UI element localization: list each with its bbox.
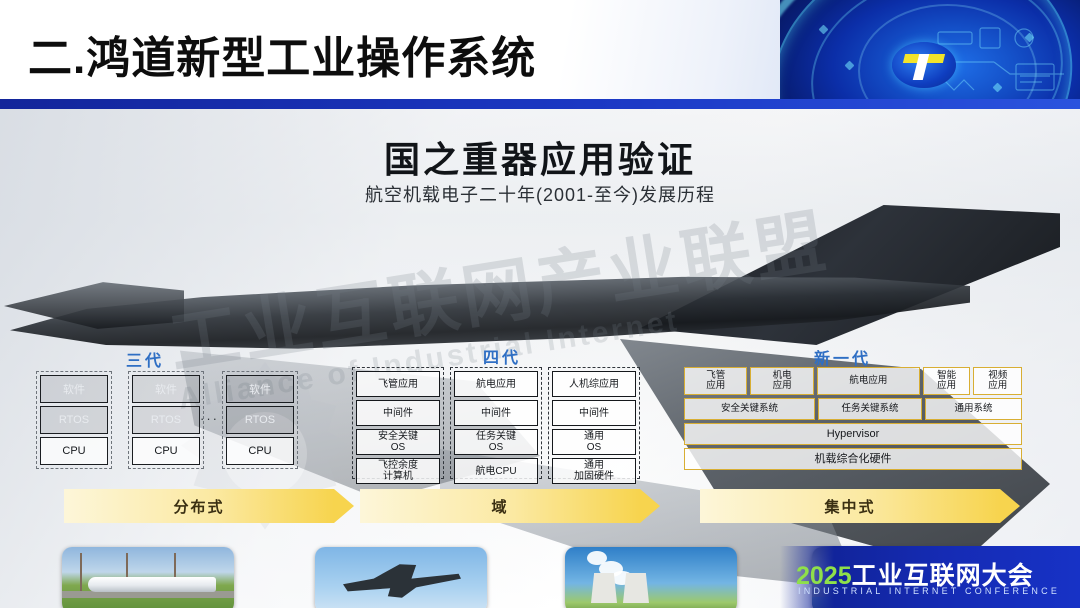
gen3-cell-cpu: CPU	[226, 437, 294, 465]
newgen-system-mission-critical: 任务关键系统	[818, 398, 922, 420]
main-subtitle: 航空机载电子二十年(2001-至今)发展历程	[0, 181, 1080, 207]
gen4-cell-middleware: 中间件	[552, 400, 636, 426]
newgen-system-general: 通用系统	[925, 398, 1022, 420]
gen3-cell-rtos: RTOS	[132, 406, 200, 434]
newgen-hardware-row: 机载综合化硬件	[684, 448, 1022, 470]
newgen-hardware: 机载综合化硬件	[684, 448, 1022, 470]
slide-header: 二.鸿道新型工业操作系统	[0, 0, 1080, 109]
slide-root: 二.鸿道新型工业操作系统	[0, 0, 1080, 608]
arrow-label: 分布式	[64, 489, 334, 523]
newgen-system-safety-critical: 安全关键系统	[684, 398, 815, 420]
photo-power-plant	[565, 547, 737, 608]
newgen-app-row: 飞管应用 机电应用 航电应用 智能应用 视频应用	[684, 367, 1022, 395]
slide-body: 工业互联网产业联盟 Alliance of Industrial Interne…	[0, 109, 1080, 608]
photo-fighter-jet	[315, 547, 487, 608]
gen3-column-1: 软件 RTOS CPU	[36, 371, 112, 469]
gen4-cell-middleware: 中间件	[356, 400, 440, 426]
newgen-app-video: 视频应用	[973, 367, 1022, 395]
main-heading: 国之重器应用验证	[0, 131, 1080, 183]
page-title: 二.鸿道新型工业操作系统	[28, 22, 536, 86]
gen4-cell-middleware: 中间件	[454, 400, 538, 426]
gen3-cell-software: 软件	[132, 375, 200, 403]
gen3-cell-software: 软件	[40, 375, 108, 403]
gen3-cell-cpu: CPU	[40, 437, 108, 465]
gen4-column-flight-control: 飞管应用 中间件 安全关键OS 飞控余度计算机	[352, 367, 444, 479]
gen4-cell-app: 飞管应用	[356, 371, 440, 397]
newgen-app-flight: 飞管应用	[684, 367, 747, 395]
gen4-cell-app: 人机综应用	[552, 371, 636, 397]
arrow-distributed: 分布式	[64, 489, 354, 523]
gen3-cell-rtos: RTOS	[40, 406, 108, 434]
newgen-app-mechanical: 机电应用	[750, 367, 813, 395]
gen3-cell-software: 软件	[226, 375, 294, 403]
arrow-head-icon	[1000, 489, 1020, 523]
gen3-cell-cpu: CPU	[132, 437, 200, 465]
gen4-label: 四代	[483, 344, 521, 368]
gen3-column-2: 软件 RTOS CPU	[128, 371, 204, 469]
gen4-cell-os: 通用OS	[552, 429, 636, 455]
arrow-head-icon	[640, 489, 660, 523]
gen4-cell-os: 任务关键OS	[454, 429, 538, 455]
header-divider	[0, 99, 1080, 109]
gen4-column-general: 人机综应用 中间件 通用OS 通用加固硬件	[548, 367, 640, 479]
newgen-hypervisor-row: Hypervisor	[684, 423, 1022, 445]
newgen-app-intelligent: 智能应用	[923, 367, 971, 395]
gen3-cell-rtos: RTOS	[226, 406, 294, 434]
arrow-domain: 域	[360, 489, 660, 523]
gen4-cell-hardware: 通用加固硬件	[552, 458, 636, 484]
arrow-centralized: 集中式	[700, 489, 1020, 523]
arrow-head-icon	[334, 489, 354, 523]
arrow-label: 集中式	[700, 489, 1000, 523]
gen4-column-avionics: 航电应用 中间件 任务关键OS 航电CPU	[450, 367, 542, 479]
newgen-app-avionics: 航电应用	[817, 367, 920, 395]
newgen-hypervisor: Hypervisor	[684, 423, 1022, 445]
newgen-label: 新一代	[814, 345, 871, 369]
gen4-cell-os: 安全关键OS	[356, 429, 440, 455]
brand-t-logo-icon	[892, 42, 956, 88]
gen3-column-3: 软件 RTOS CPU	[222, 371, 298, 469]
header-tech-graphic	[780, 0, 1080, 109]
conference-name-en: INDUSTRIAL INTERNET CONFERENCE	[798, 586, 1060, 596]
gen3-ellipsis: ···	[200, 411, 219, 426]
newgen-system-row: 安全关键系统 任务关键系统 通用系统	[684, 398, 1022, 420]
arrow-label: 域	[360, 489, 640, 523]
gen4-cell-app: 航电应用	[454, 371, 538, 397]
photo-high-speed-train	[62, 547, 234, 608]
gen3-label: 三代	[126, 347, 164, 371]
newgen-stack: 飞管应用 机电应用 航电应用 智能应用 视频应用 安全关键系统 任务关键系统 通…	[684, 367, 1022, 477]
gen4-cell-hardware: 飞控余度计算机	[356, 458, 440, 484]
gen4-cell-hardware: 航电CPU	[454, 458, 538, 484]
conference-logo: 2025工业互联网大会 INDUSTRIAL INTERNET CONFEREN…	[780, 546, 1080, 608]
